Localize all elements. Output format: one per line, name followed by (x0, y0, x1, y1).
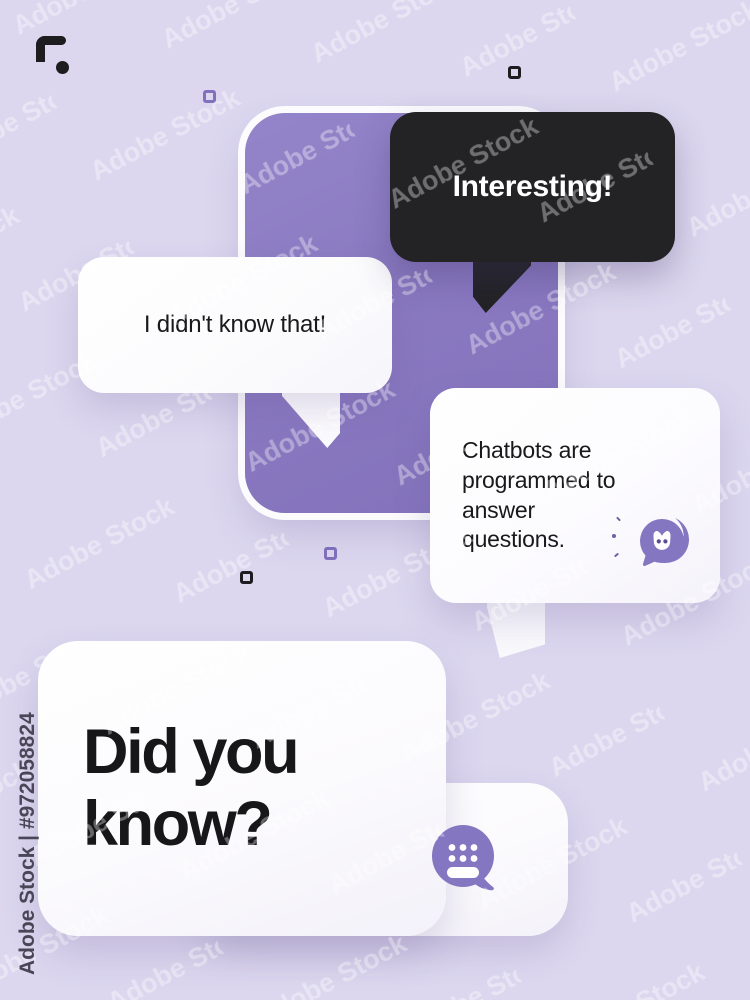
chatbots-bubble-text: Chatbots are programmed to answer questi… (462, 436, 622, 556)
headline-text-block: Did you know? (38, 717, 297, 859)
interesting-bubble-text: Interesting! (453, 170, 613, 204)
watermark-id-label: Adobe Stock | #972058824 (0, 0, 60, 1000)
small-square-purple-icon (203, 90, 216, 103)
chat-bot-face-icon (628, 510, 690, 572)
chat-bot-keypad-icon (430, 823, 502, 895)
headline-line-2: know? (83, 789, 297, 860)
small-square-dark-icon (508, 66, 521, 79)
didnt-know-bubble: I didn't know that! (78, 257, 392, 393)
chatbots-bubble-tail (487, 596, 545, 658)
svg-text:Adobe Stock | #972058824: Adobe Stock | #972058824 (16, 712, 39, 975)
didnt-know-bubble-text: I didn't know that! (144, 311, 326, 339)
small-square-dark-icon-2 (240, 571, 253, 584)
headline-card: Did you know? (38, 641, 446, 936)
poster-canvas: I didn't know that! Interesting! Chatbot… (0, 0, 750, 1000)
interesting-bubble: Interesting! (390, 112, 675, 262)
spark-mark-2 (612, 534, 616, 538)
small-square-purple-icon-2 (324, 547, 337, 560)
headline-line-1: Did you (83, 717, 297, 788)
